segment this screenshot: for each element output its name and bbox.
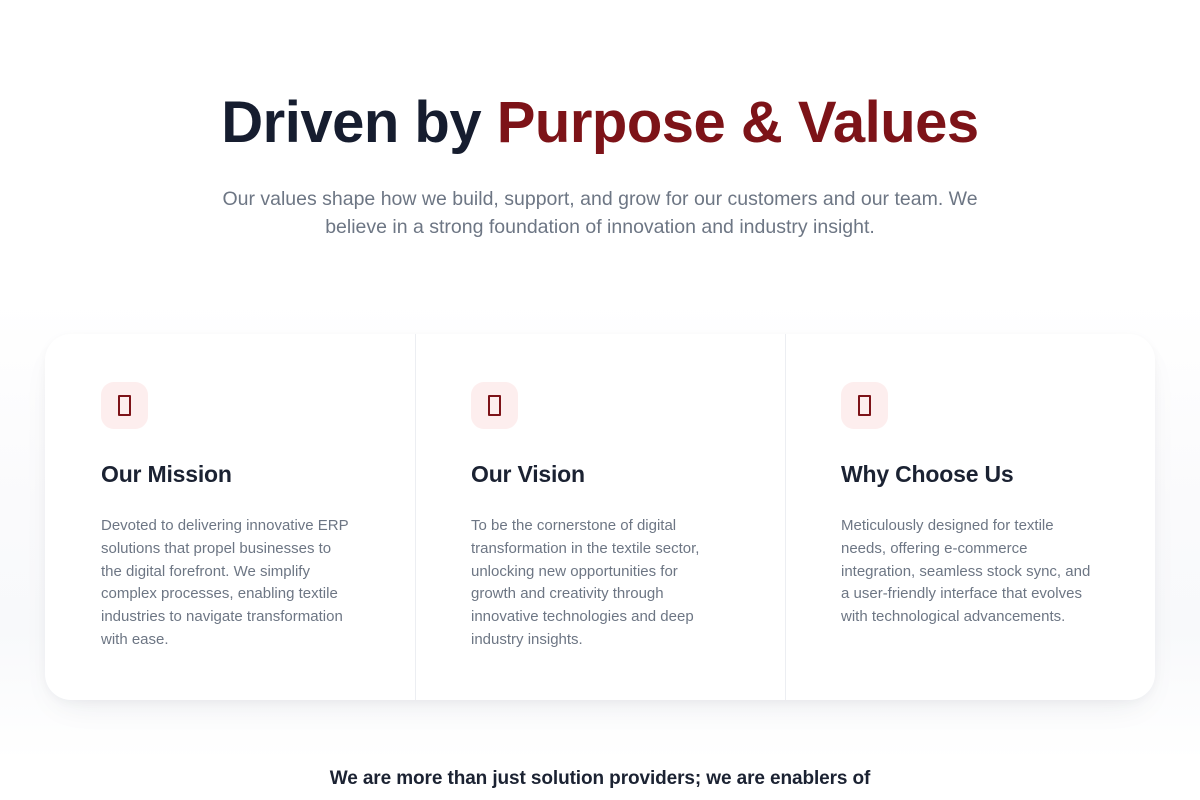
page-title-lead: Driven by bbox=[221, 90, 496, 155]
value-card-body: Meticulously designed for textile needs,… bbox=[841, 515, 1093, 629]
value-card-mission[interactable]: Our Mission Devoted to delivering innova… bbox=[45, 334, 415, 700]
missing-glyph-icon bbox=[488, 395, 501, 416]
values-cards-wrapper: Our Mission Devoted to delivering innova… bbox=[45, 334, 1155, 700]
missing-glyph-icon bbox=[858, 395, 871, 416]
values-cards-container: Our Mission Devoted to delivering innova… bbox=[45, 334, 1155, 700]
value-card-title: Our Mission bbox=[101, 461, 359, 488]
value-card-title: Our Vision bbox=[471, 461, 729, 488]
mission-icon-tile bbox=[101, 382, 148, 429]
why-choose-us-icon-tile bbox=[841, 382, 888, 429]
value-card-body: Devoted to delivering innovative ERP sol… bbox=[101, 515, 353, 652]
values-section-page: Driven by Purpose & Values Our values sh… bbox=[0, 0, 1200, 800]
vision-icon-tile bbox=[471, 382, 518, 429]
value-card-why-choose-us[interactable]: Why Choose Us Meticulously designed for … bbox=[785, 334, 1155, 700]
value-card-title: Why Choose Us bbox=[841, 461, 1099, 488]
hero-section: Driven by Purpose & Values Our values sh… bbox=[0, 0, 1200, 242]
page-subtitle: Our values shape how we build, support, … bbox=[220, 185, 980, 243]
value-card-vision[interactable]: Our Vision To be the cornerstone of digi… bbox=[415, 334, 785, 700]
value-card-body: To be the cornerstone of digital transfo… bbox=[471, 515, 723, 652]
bottom-heading: We are more than just solution providers… bbox=[0, 768, 1200, 790]
missing-glyph-icon bbox=[118, 395, 131, 416]
page-title: Driven by Purpose & Values bbox=[0, 92, 1200, 155]
page-title-accent: Purpose & Values bbox=[497, 90, 979, 155]
